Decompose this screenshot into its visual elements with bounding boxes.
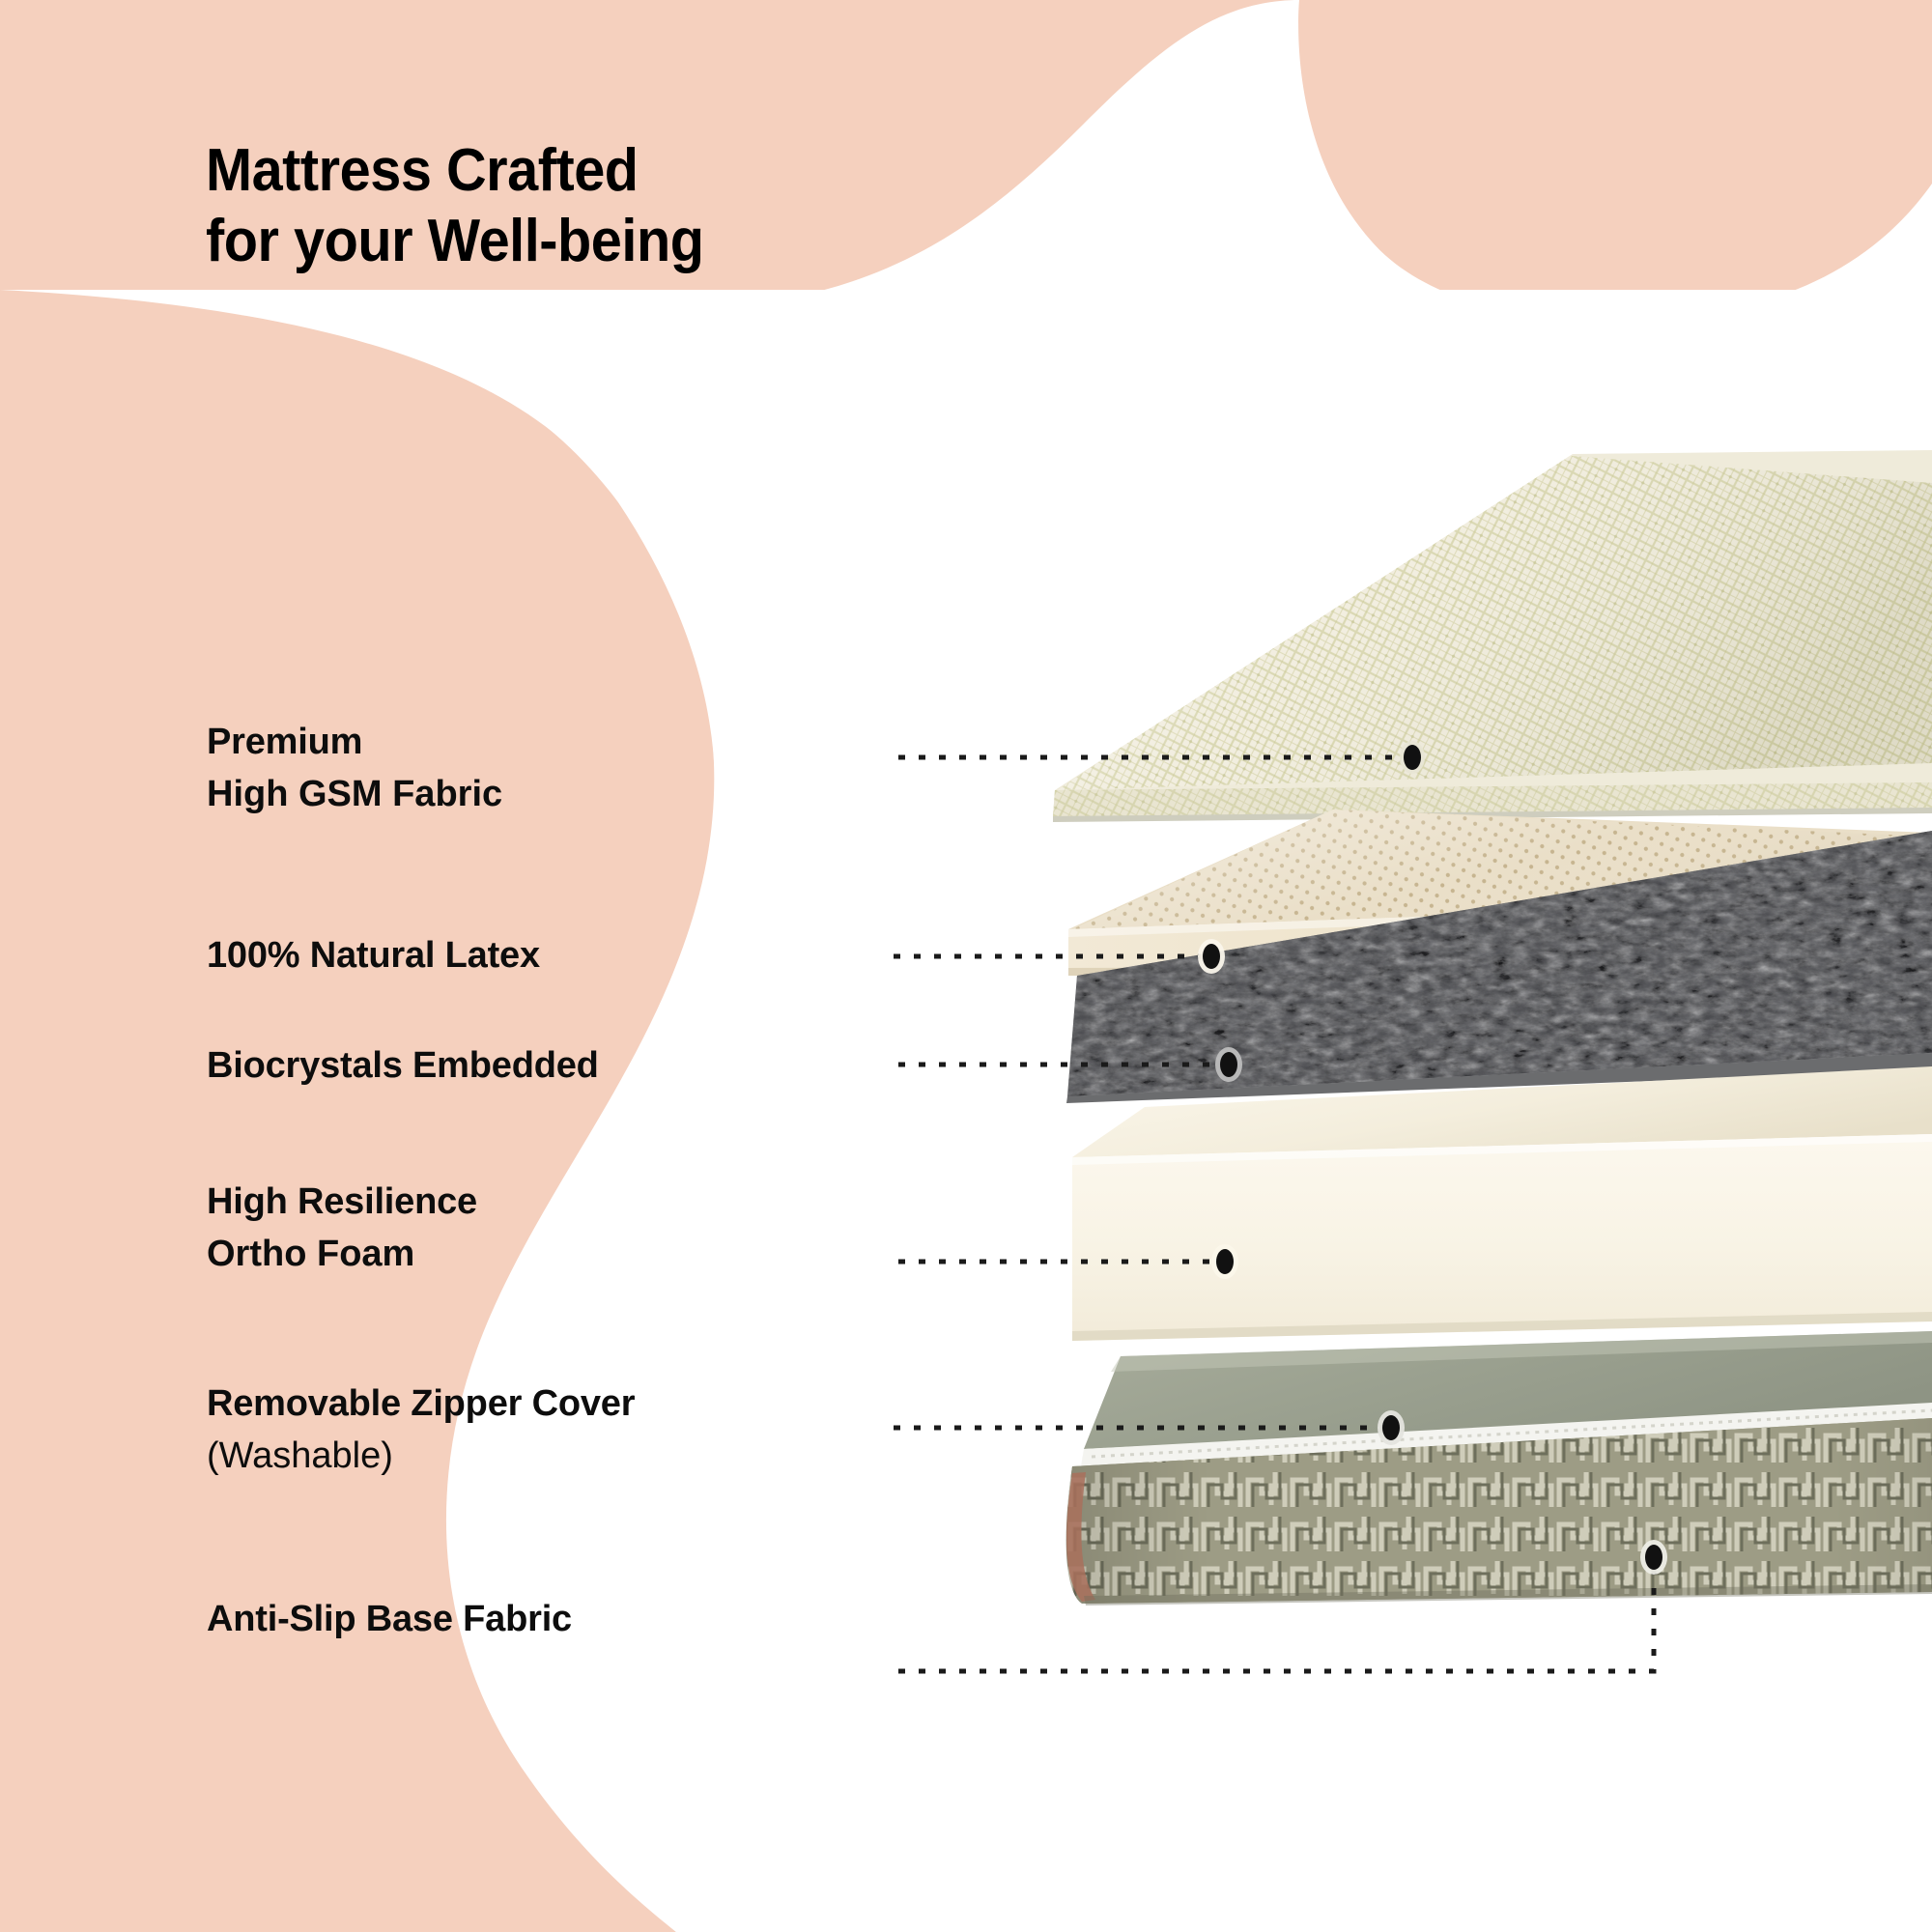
page-title-line-1: Mattress Crafted <box>206 137 639 204</box>
layer-high-resilience-ortho-foam <box>1072 1066 1932 1341</box>
callout-label-anti-slip-base-fabric: Anti-Slip Base Fabric <box>207 1594 572 1646</box>
infographic-canvas: Mattress Crafted for your Well-being <box>0 0 1932 1932</box>
callout-label-line-2: (Washable) <box>207 1431 635 1483</box>
callout-label-line-1: Removable Zipper Cover <box>207 1383 635 1424</box>
callout-label-removable-zipper-cover: Removable Zipper Cover (Washable) <box>207 1378 635 1483</box>
layer-premium-high-gsm-fabric <box>1053 450 1932 822</box>
callout-label-biocrystals-embedded: Biocrystals Embedded <box>207 1040 599 1093</box>
callout-label-premium-high-gsm-fabric: Premium High GSM Fabric <box>207 717 502 821</box>
callout-label-high-resilience-ortho-foam: High Resilience Ortho Foam <box>207 1177 477 1281</box>
page-title-line-2: for your Well-being <box>206 206 703 276</box>
callout-label-line-2: High GSM Fabric <box>207 769 502 821</box>
callout-label-natural-latex: 100% Natural Latex <box>207 930 540 982</box>
page-title: Mattress Crafted for your Well-being <box>206 135 703 276</box>
callout-label-line-2: Ortho Foam <box>207 1229 477 1281</box>
callout-label-line-1: Premium <box>207 722 362 762</box>
callout-label-line-1: Anti-Slip Base Fabric <box>207 1599 572 1639</box>
callout-label-line-1: Biocrystals Embedded <box>207 1045 599 1086</box>
callout-label-line-1: High Resilience <box>207 1181 477 1222</box>
callout-label-line-1: 100% Natural Latex <box>207 935 540 976</box>
